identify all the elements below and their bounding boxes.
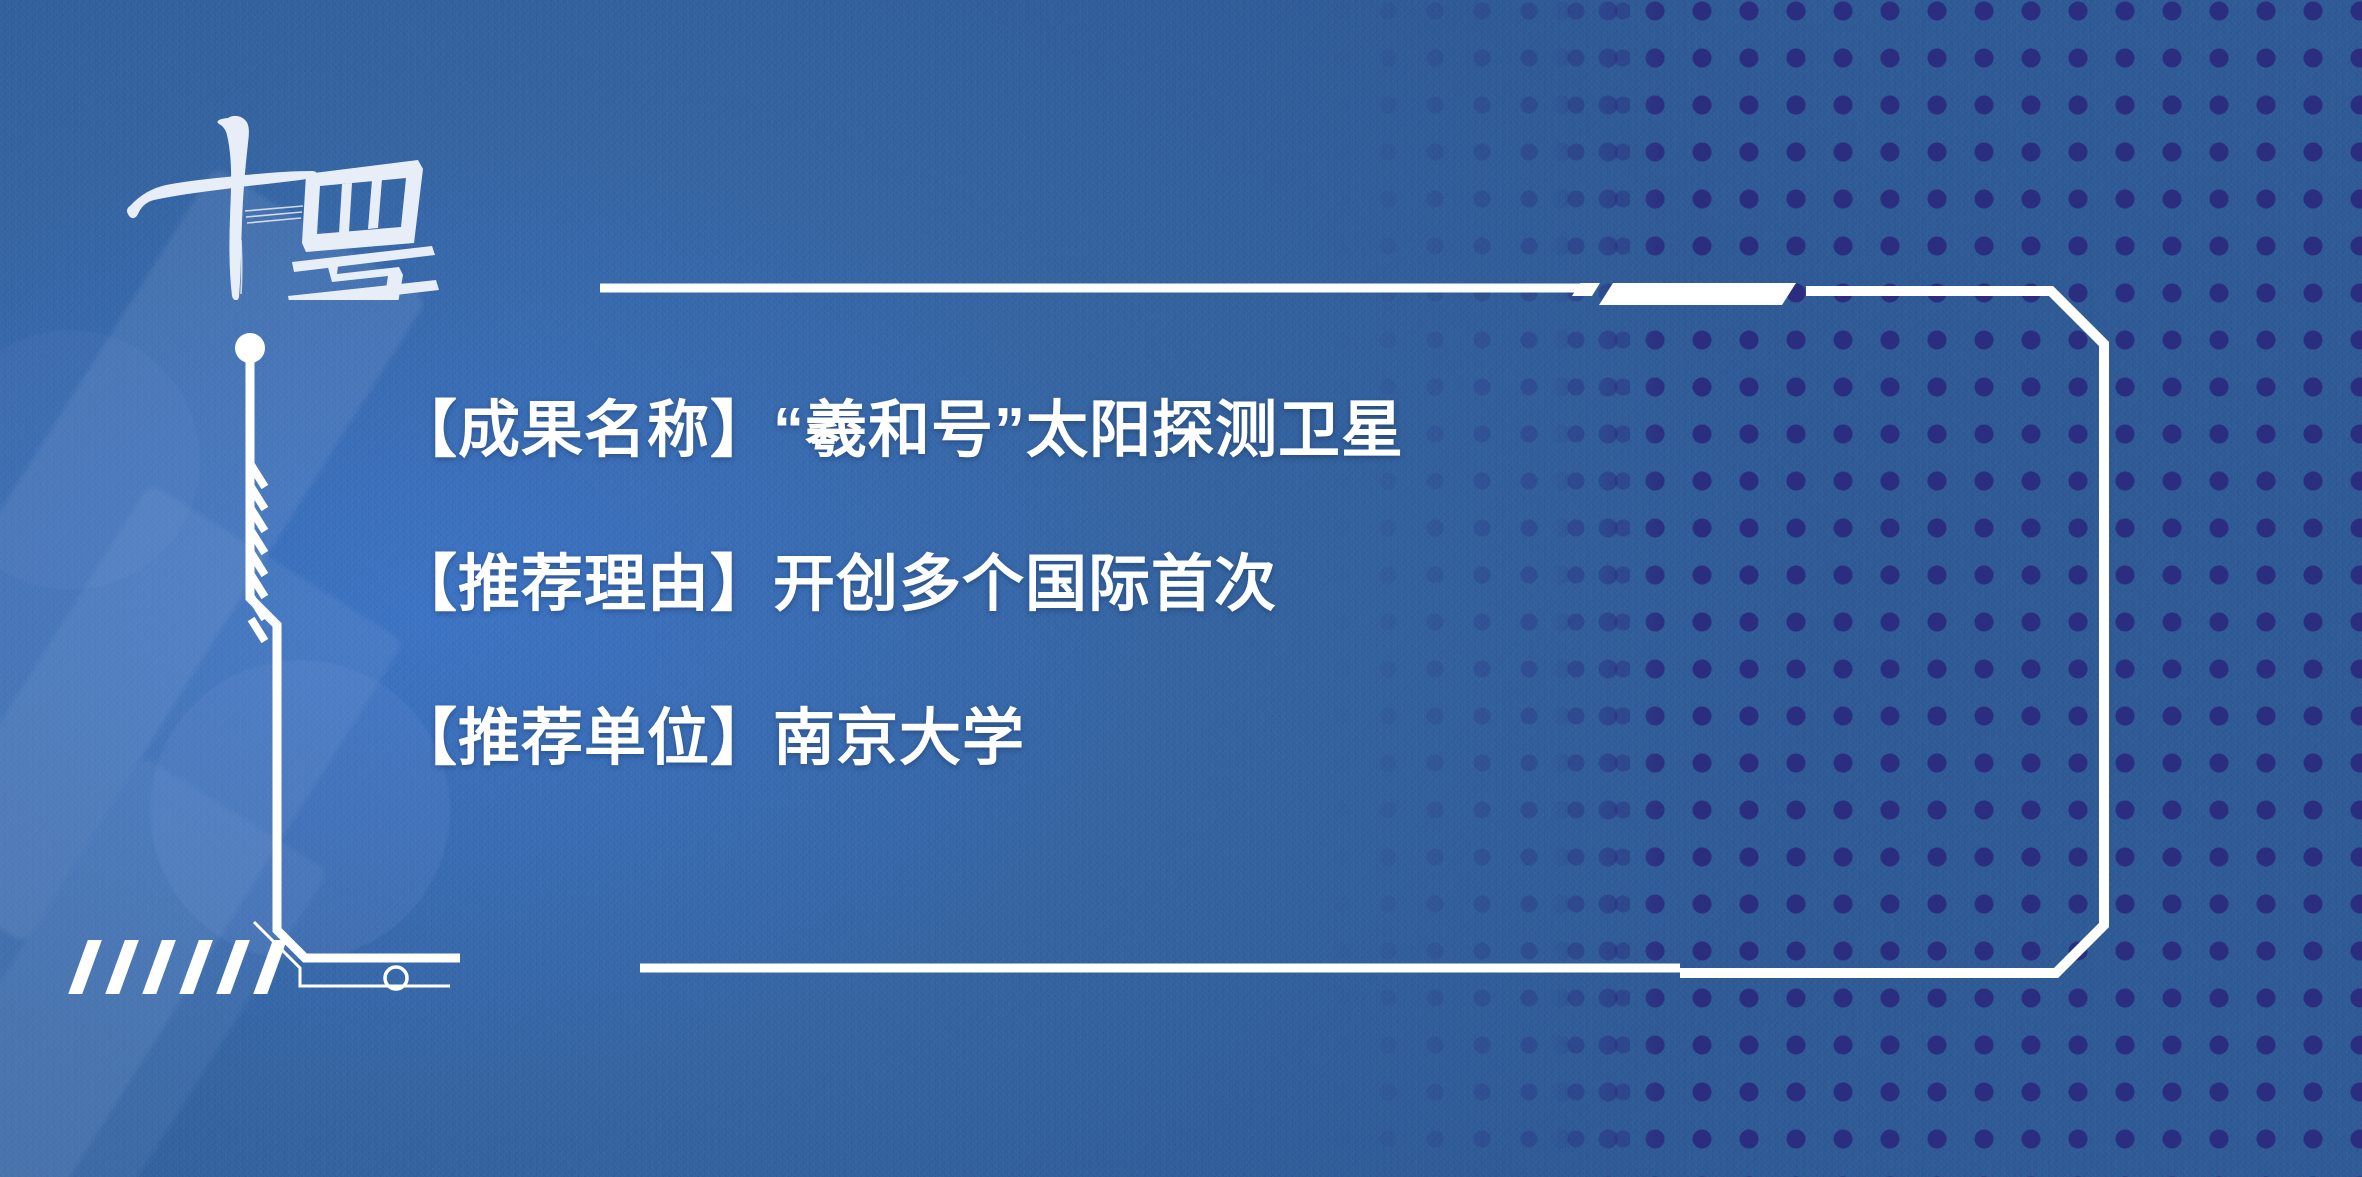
- poster-line-3-value: 南京大学: [773, 704, 1025, 773]
- poster-line-2-label: 【推荐理由】: [395, 550, 773, 619]
- poster-canvas: 【成果名称】“羲和号”太阳探测卫星 【推荐理由】开创多个国际首次 【推荐单位】南…: [0, 0, 2362, 1177]
- poster-line-3-label: 【推荐单位】: [395, 704, 773, 773]
- poster-line-1-label: 【成果名称】: [395, 396, 773, 465]
- poster-line-2-value: 开创多个国际首次: [773, 550, 1277, 619]
- poster-text-block: 【成果名称】“羲和号”太阳探测卫星 【推荐理由】开创多个国际首次 【推荐单位】南…: [395, 400, 1895, 770]
- poster-line-1: 【成果名称】“羲和号”太阳探测卫星: [395, 400, 1895, 462]
- poster-line-2: 【推荐理由】开创多个国际首次: [395, 554, 1895, 616]
- poster-line-1-value: “羲和号”太阳探测卫星: [773, 396, 1404, 465]
- logo-shisiwu-icon: [110, 110, 440, 300]
- poster-line-3: 【推荐单位】南京大学: [395, 708, 1895, 770]
